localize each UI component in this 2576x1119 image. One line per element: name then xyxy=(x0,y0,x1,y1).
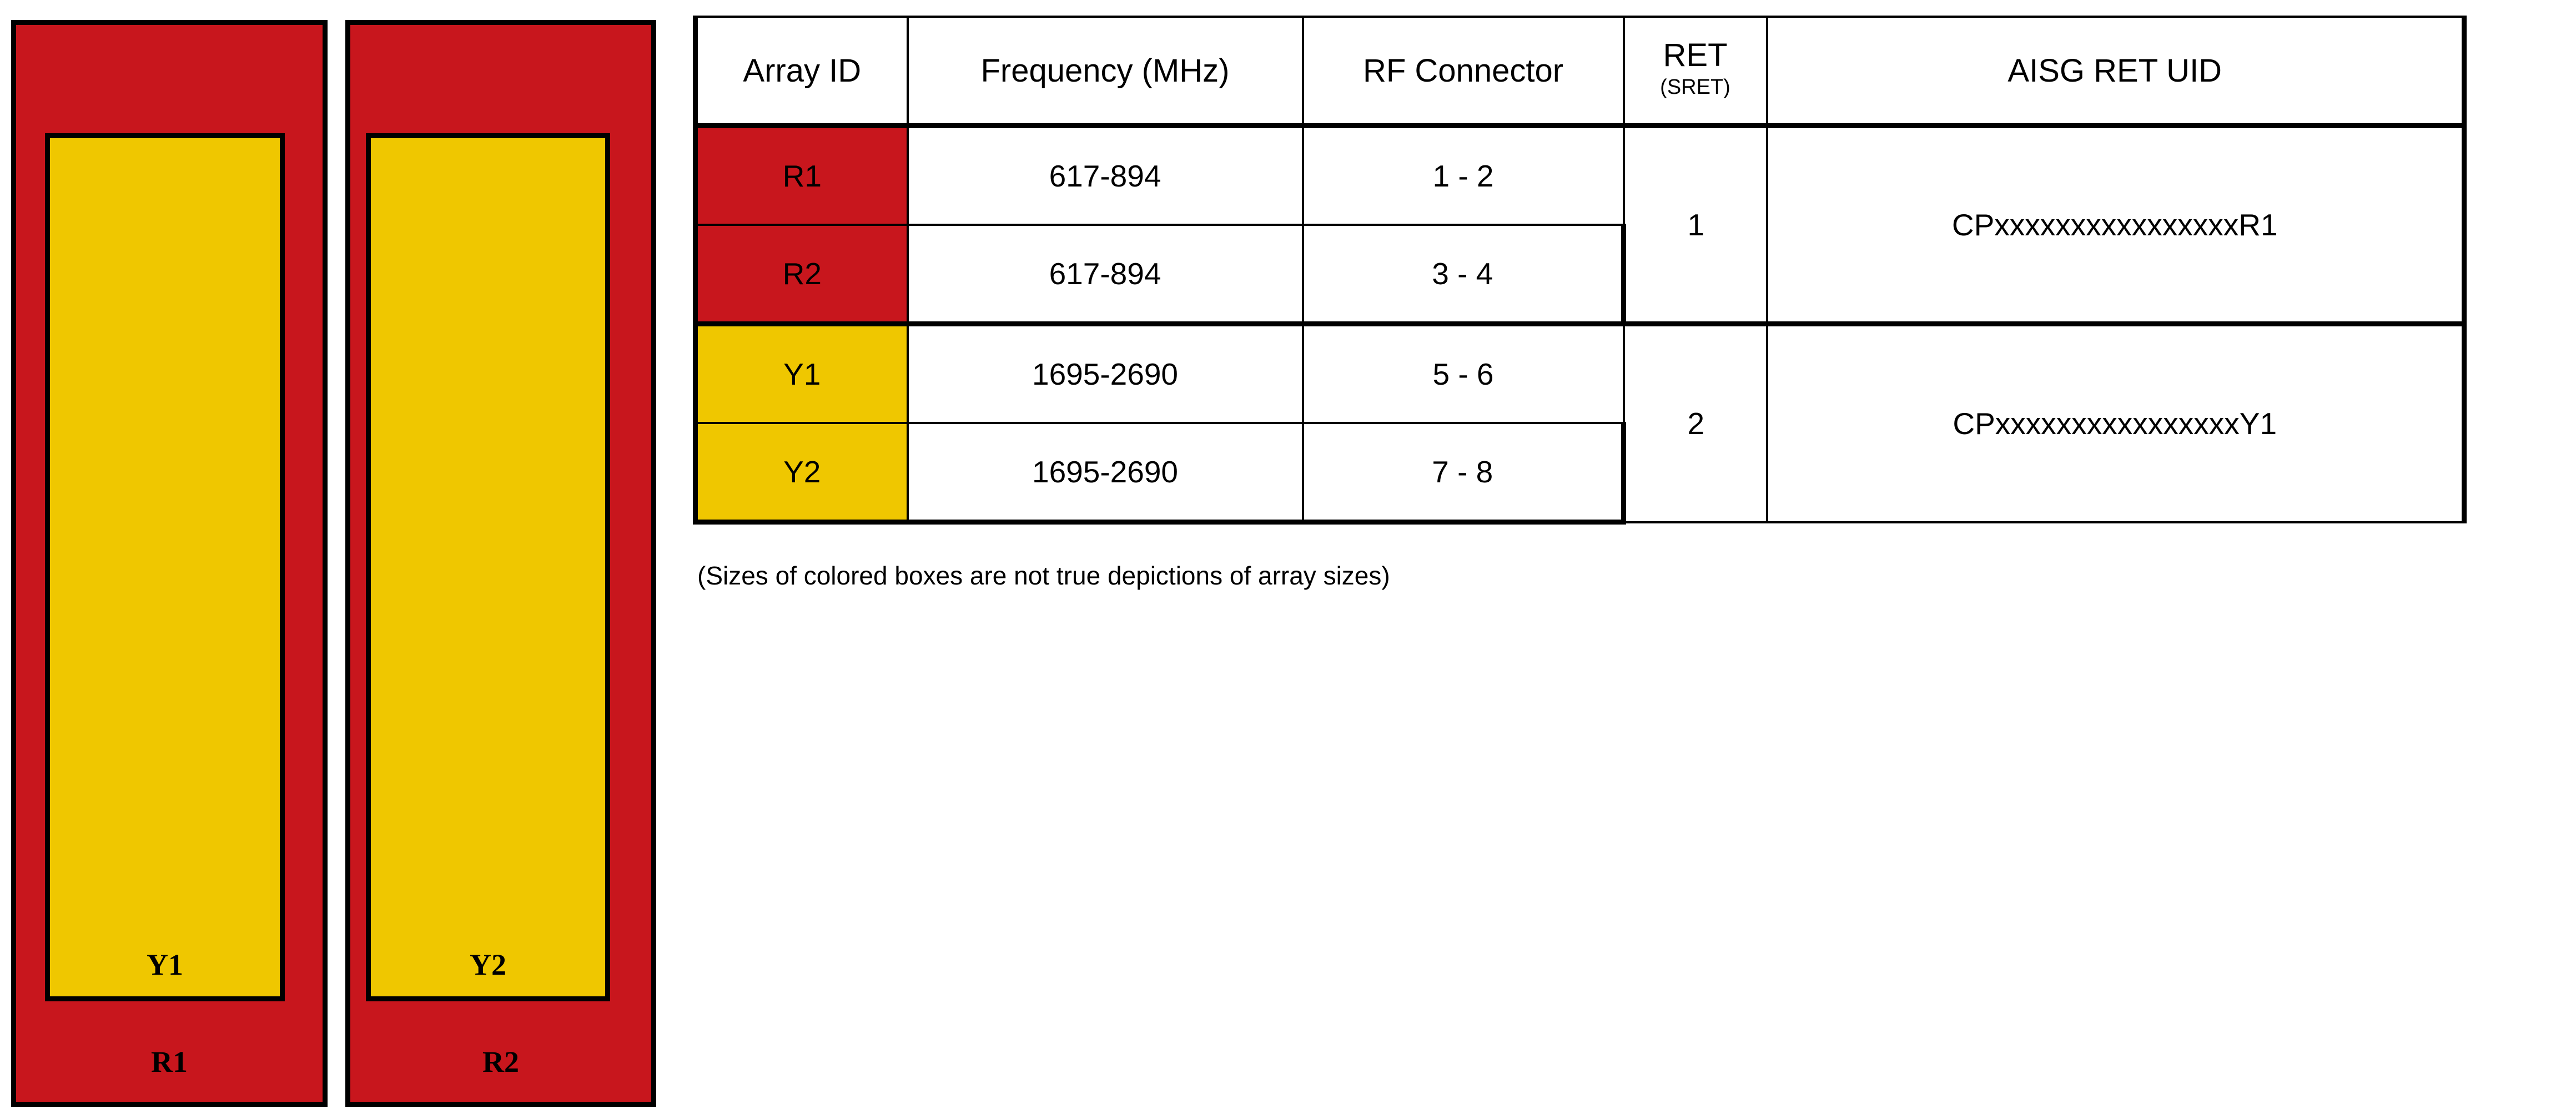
cell-rf-connector: 7 - 8 xyxy=(1303,423,1624,522)
ret-table-container: Array ID Frequency (MHz) RF Connector RE… xyxy=(693,16,2465,525)
inner-array-label-y1: Y1 xyxy=(50,950,280,980)
table-body: R1 617-894 1 - 2 1 CPxxxxxxxxxxxxxxxxR1 … xyxy=(696,126,2464,522)
cell-ret-number: 2 xyxy=(1624,324,1767,522)
column-header-rf-connector: RF Connector xyxy=(1303,17,1624,126)
table-header: Array ID Frequency (MHz) RF Connector RE… xyxy=(696,17,2464,126)
table-header-row: Array ID Frequency (MHz) RF Connector RE… xyxy=(696,17,2464,126)
cell-rf-connector: 3 - 4 xyxy=(1303,225,1624,324)
cell-rf-connector: 1 - 2 xyxy=(1303,126,1624,225)
table-row: Y1 1695-2690 5 - 6 2 CPxxxxxxxxxxxxxxxxY… xyxy=(696,324,2464,424)
column-header-ret: RET (SRET) xyxy=(1624,17,1767,126)
array-panel-r2: Y2 R2 xyxy=(345,20,656,1107)
cell-aisg-ret-uid: CPxxxxxxxxxxxxxxxxR1 xyxy=(1767,126,2464,324)
cell-array-id: Y2 xyxy=(696,423,908,522)
column-header-aisg-ret-uid: AISG RET UID xyxy=(1767,17,2464,126)
cell-rf-connector: 5 - 6 xyxy=(1303,324,1624,424)
inner-array-y1: Y1 xyxy=(45,133,285,1001)
array-panel-label-r1: R1 xyxy=(16,1047,323,1077)
cell-frequency: 617-894 xyxy=(908,225,1303,324)
cell-frequency: 1695-2690 xyxy=(908,324,1303,424)
column-header-frequency: Frequency (MHz) xyxy=(908,17,1303,126)
cell-array-id: R2 xyxy=(696,225,908,324)
array-panel-r1: Y1 R1 xyxy=(11,20,328,1107)
column-header-ret-sub: (SRET) xyxy=(1625,73,1766,102)
column-header-ret-main: RET xyxy=(1625,39,1766,73)
array-ret-table: Array ID Frequency (MHz) RF Connector RE… xyxy=(693,16,2467,525)
array-panel-label-r2: R2 xyxy=(350,1047,651,1077)
cell-array-id: Y1 xyxy=(696,324,908,424)
array-diagram: Y1 R1 Y2 R2 xyxy=(0,0,677,1119)
cell-aisg-ret-uid: CPxxxxxxxxxxxxxxxxY1 xyxy=(1767,324,2464,522)
cell-array-id: R1 xyxy=(696,126,908,225)
inner-array-y2: Y2 xyxy=(366,133,610,1001)
cell-ret-number: 1 xyxy=(1624,126,1767,324)
table-row: R1 617-894 1 - 2 1 CPxxxxxxxxxxxxxxxxR1 xyxy=(696,126,2464,225)
column-header-array-id: Array ID xyxy=(696,17,908,126)
inner-array-label-y2: Y2 xyxy=(371,950,605,980)
cell-frequency: 1695-2690 xyxy=(908,423,1303,522)
diagram-note: (Sizes of colored boxes are not true dep… xyxy=(697,561,1390,591)
cell-frequency: 617-894 xyxy=(908,126,1303,225)
